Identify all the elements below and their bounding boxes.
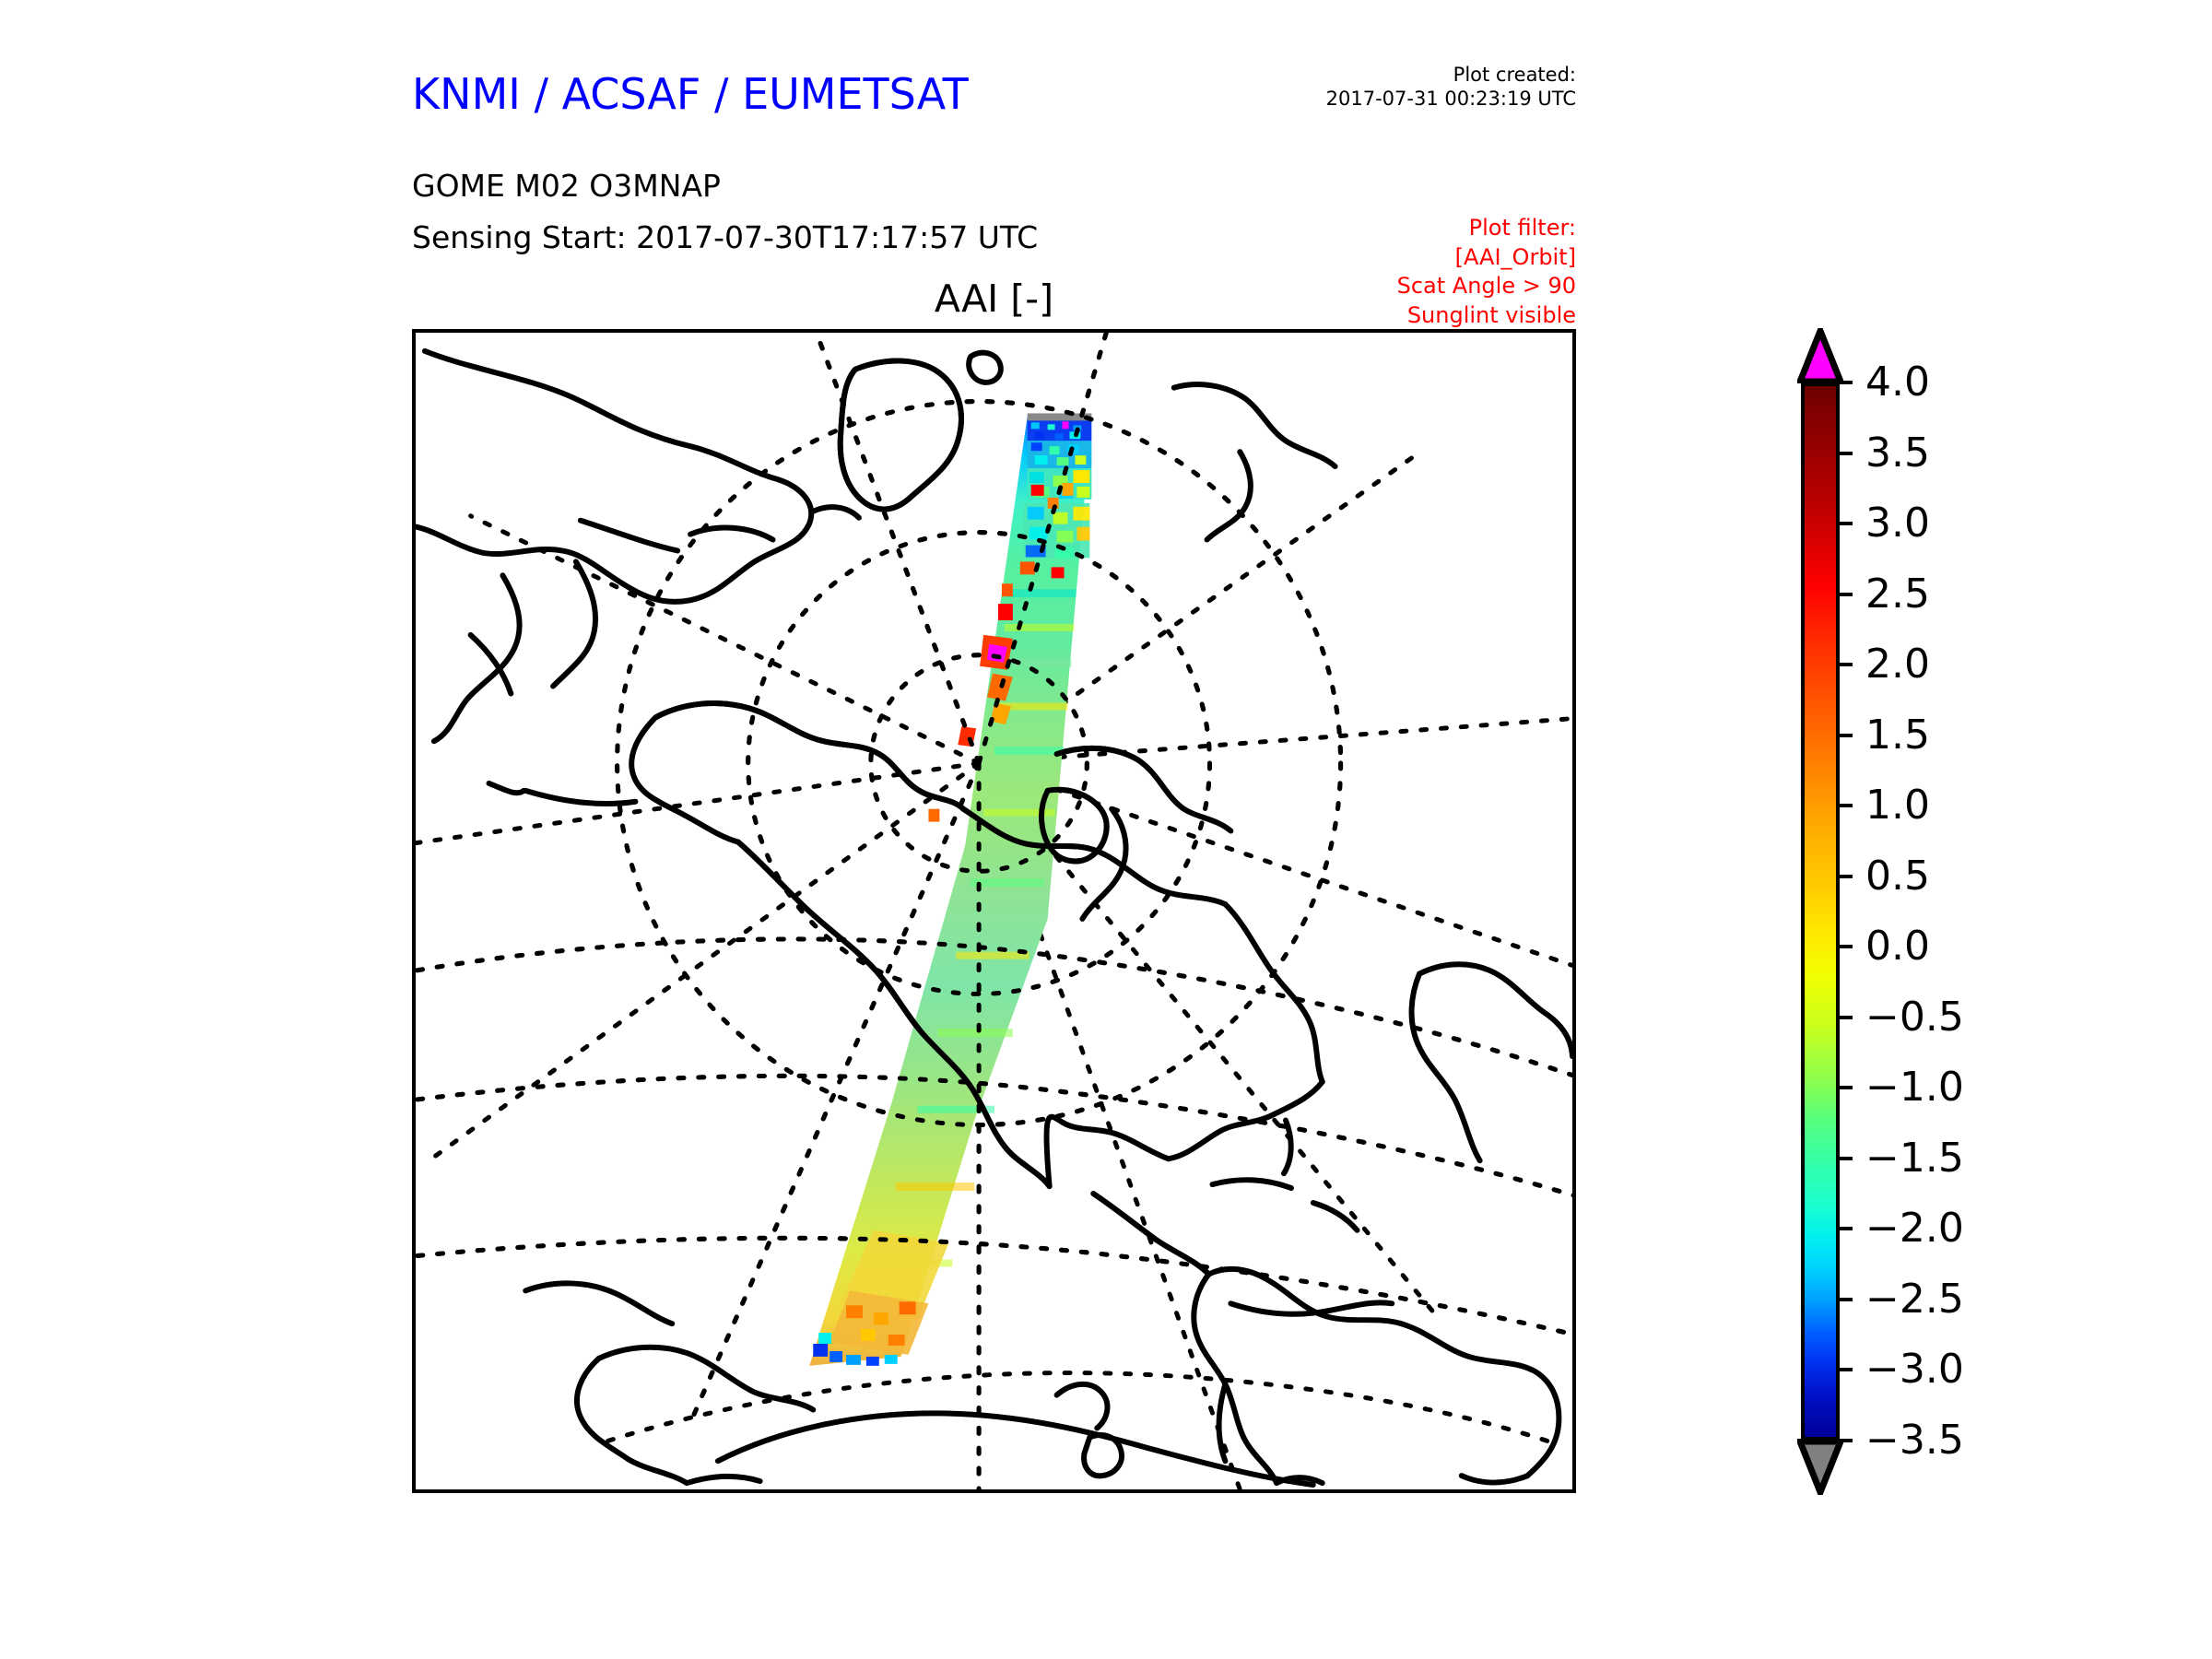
colorbar-under-outline xyxy=(1797,1439,1843,1495)
satellite-swath xyxy=(809,413,1091,1365)
colorbar-tick xyxy=(1840,1227,1853,1230)
colorbar-tick xyxy=(1840,381,1853,384)
world-map xyxy=(416,333,1572,1489)
colorbar[interactable]: 4.03.53.02.52.01.51.00.50.0−0.5−1.0−1.5−… xyxy=(1801,330,2170,1496)
colorbar-tick-label: 1.0 xyxy=(1865,785,1930,826)
colorbar-tick-label: 4.0 xyxy=(1865,362,1930,403)
colorbar-tick xyxy=(1840,945,1853,948)
colorbar-tick-label: 0.0 xyxy=(1865,926,1930,967)
colorbar-tick xyxy=(1840,804,1853,807)
plot-created-value: 2017-07-31 00:23:19 UTC xyxy=(1326,87,1576,111)
colorbar-tick xyxy=(1840,734,1853,737)
colorbar-tick xyxy=(1840,1368,1853,1371)
page-title: AAI [-] xyxy=(412,276,1576,321)
colorbar-tick xyxy=(1840,522,1853,525)
colorbar-tick-label: −2.0 xyxy=(1865,1208,1964,1249)
colorbar-tick-label: 3.5 xyxy=(1865,433,1930,474)
colorbar-tick xyxy=(1840,452,1853,455)
colorbar-tick-label: 2.0 xyxy=(1865,644,1930,685)
colorbar-tick xyxy=(1840,1439,1853,1442)
colorbar-tick-label: 0.5 xyxy=(1865,856,1930,897)
colorbar-over-outline xyxy=(1797,328,1843,383)
organisation-title: KNMI / ACSAF / EUMETSAT xyxy=(412,69,1112,119)
colorbar-tick xyxy=(1840,1298,1853,1301)
colorbar-tick xyxy=(1840,1016,1853,1019)
plot-filter-label: Plot filter: xyxy=(1397,214,1576,243)
plot-filter-line-0: [AAI_Orbit] xyxy=(1397,243,1576,273)
colorbar-tick-label: −3.5 xyxy=(1865,1420,1964,1461)
colorbar-tick-label: 2.5 xyxy=(1865,574,1930,615)
colorbar-tick-label: 3.0 xyxy=(1865,503,1930,544)
colorbar-tick-label: −1.5 xyxy=(1865,1138,1964,1179)
colorbar-tick xyxy=(1840,1157,1853,1160)
colorbar-tick-label: 1.5 xyxy=(1865,715,1930,756)
plot-created-label: Plot created: xyxy=(1326,63,1576,87)
colorbar-tick-label: −3.0 xyxy=(1865,1349,1964,1390)
colorbar-tick xyxy=(1840,663,1853,666)
plot-created-block: Plot created: 2017-07-31 00:23:19 UTC xyxy=(1326,63,1576,112)
map-panel[interactable] xyxy=(412,329,1576,1493)
sensing-start-label: Sensing Start: 2017-07-30T17:17:57 UTC xyxy=(412,219,1038,255)
colorbar-tick-label: −1.0 xyxy=(1865,1067,1964,1108)
colorbar-gradient[interactable] xyxy=(1801,382,1840,1441)
product-title: GOME M02 O3MNAP xyxy=(412,168,721,204)
colorbar-tick xyxy=(1840,593,1853,596)
colorbar-tick-label: −2.5 xyxy=(1865,1279,1964,1320)
colorbar-tick xyxy=(1840,1086,1853,1089)
colorbar-tick-label: −0.5 xyxy=(1865,997,1964,1038)
colorbar-tick xyxy=(1840,875,1853,878)
